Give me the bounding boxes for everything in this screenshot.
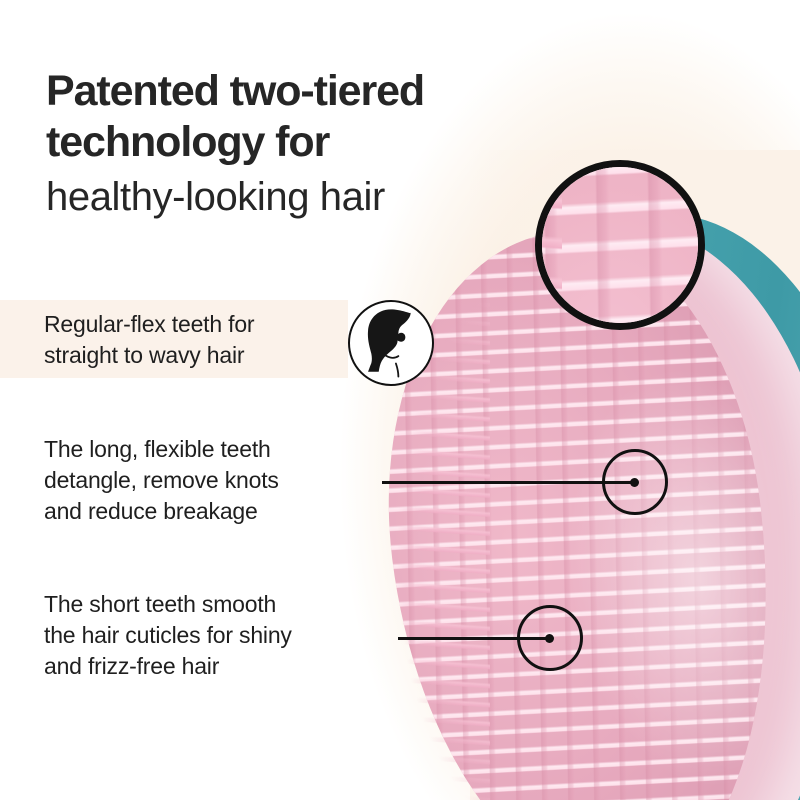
- feature-3-line-2: the hair cuticles for shiny: [44, 620, 394, 651]
- headline-line-2: technology for: [46, 117, 566, 168]
- feature-2-line-2: detangle, remove knots: [44, 465, 384, 496]
- feature-1-line-2: straight to wavy hair: [44, 340, 344, 371]
- callout-dot-long-teeth: [630, 478, 639, 487]
- feature-short-teeth: The short teeth smooth the hair cuticles…: [44, 589, 394, 682]
- callout-dot-short-teeth: [545, 634, 554, 643]
- headline-line-1: Patented two-tiered: [46, 66, 566, 117]
- callout-line-long-teeth: [382, 481, 638, 484]
- feature-long-flexible-teeth: The long, flexible teeth detangle, remov…: [44, 434, 384, 527]
- feature-regular-flex-teeth: Regular-flex teeth for straight to wavy …: [44, 309, 344, 371]
- headline-line-3: healthy-looking hair: [46, 172, 566, 222]
- page-title: Patented two-tiered technology for healt…: [46, 66, 566, 222]
- promo-graphic: Patented two-tiered technology for healt…: [0, 0, 800, 800]
- feature-3-line-1: The short teeth smooth: [44, 589, 394, 620]
- woman-hair-icon: [348, 300, 434, 386]
- feature-1-line-1: Regular-flex teeth for: [44, 309, 344, 340]
- feature-2-line-3: and reduce breakage: [44, 496, 384, 527]
- feature-2-line-1: The long, flexible teeth: [44, 434, 384, 465]
- feature-3-line-3: and frizz-free hair: [44, 651, 394, 682]
